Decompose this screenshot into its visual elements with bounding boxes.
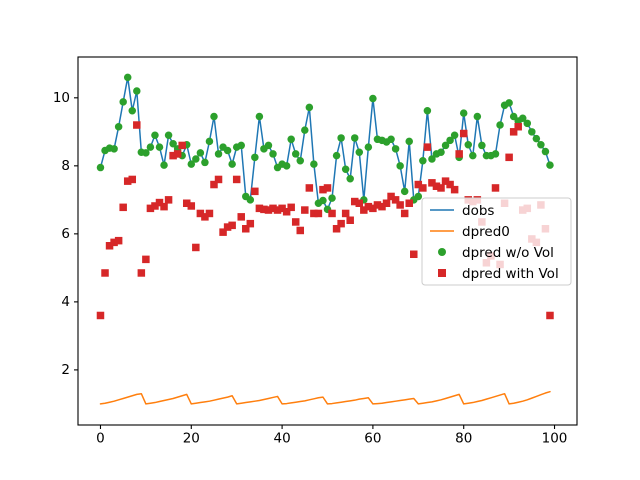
data-point-green: [451, 131, 459, 139]
data-point-green: [237, 142, 245, 150]
data-point-green: [201, 159, 209, 167]
data-point-red: [237, 213, 245, 221]
y-tick-label: 4: [61, 294, 70, 310]
data-point-green: [415, 193, 423, 201]
data-point-green: [546, 161, 554, 169]
data-point-green: [119, 98, 127, 106]
data-point-green: [133, 87, 141, 95]
data-point-red: [383, 200, 391, 208]
data-point-green: [528, 128, 536, 136]
data-point-green: [351, 134, 359, 142]
data-point-green: [369, 95, 377, 103]
data-point-green: [505, 99, 513, 107]
data-point-green: [310, 160, 318, 168]
x-tick-label: 20: [183, 431, 200, 447]
x-tick-label: 100: [542, 431, 568, 447]
data-point-green: [197, 149, 205, 157]
legend-circle-swatch: [438, 248, 446, 256]
data-point-red: [247, 220, 255, 228]
data-point-green: [306, 104, 314, 112]
data-point-green: [365, 143, 373, 151]
data-point-red: [337, 220, 345, 228]
legend[interactable]: dobsdpred0dpred w/o Voldpred with Vol: [422, 198, 571, 285]
data-point-green: [283, 162, 291, 170]
data-point-green: [115, 123, 123, 131]
y-tick-label: 6: [61, 226, 70, 242]
data-point-green: [301, 126, 309, 134]
data-point-red: [405, 200, 413, 208]
data-point-green: [460, 109, 468, 117]
data-point-red: [138, 269, 146, 277]
data-point-green: [405, 138, 413, 146]
data-point-red: [142, 256, 150, 264]
data-point-green: [542, 148, 550, 156]
data-point-green: [424, 107, 432, 115]
data-point-red: [514, 123, 522, 131]
matplotlib-figure: 020406080100246810 dobsdpred0dpred w/o V…: [0, 0, 640, 480]
data-point-red: [324, 184, 332, 192]
data-point-red: [133, 121, 141, 128]
data-point-green: [210, 113, 218, 121]
data-point-red: [437, 184, 445, 192]
data-point-green: [287, 136, 295, 144]
data-point-red: [346, 217, 354, 225]
data-point-green: [474, 113, 482, 121]
data-point-red: [206, 210, 214, 218]
data-point-green: [247, 196, 255, 204]
data-point-green: [265, 142, 273, 150]
data-point-red: [251, 188, 259, 196]
data-point-green: [292, 150, 300, 158]
data-point-green: [110, 145, 118, 153]
data-point-red: [328, 210, 336, 218]
data-point-red: [178, 142, 186, 150]
data-point-green: [356, 148, 364, 156]
data-point-red: [492, 184, 500, 192]
data-point-red: [192, 244, 200, 252]
data-point-green: [129, 107, 137, 115]
chart-canvas: 020406080100246810 dobsdpred0dpred w/o V…: [0, 0, 640, 480]
legend-label: dpred0: [462, 224, 510, 240]
data-point-green: [337, 134, 345, 142]
data-point-green: [492, 150, 500, 158]
legend-label: dpred w/o Vol: [462, 245, 554, 261]
data-point-red: [419, 184, 427, 192]
data-point-green: [465, 141, 473, 149]
y-tick-label: 2: [61, 362, 70, 378]
data-point-green: [333, 152, 341, 160]
y-tick-label: 10: [53, 90, 70, 106]
data-point-red: [451, 186, 459, 194]
data-point-green: [251, 154, 259, 162]
data-point-red: [188, 202, 196, 210]
data-point-green: [396, 162, 404, 170]
data-point-green: [147, 143, 155, 151]
data-point-red: [424, 143, 432, 151]
data-point-green: [256, 113, 264, 121]
data-point-green: [319, 197, 327, 205]
data-point-green: [151, 131, 159, 139]
data-point-green: [392, 145, 400, 153]
data-point-green: [537, 141, 545, 149]
data-point-green: [419, 157, 427, 165]
data-point-red: [287, 204, 295, 212]
data-point-green: [228, 160, 236, 168]
data-point-green: [192, 155, 200, 163]
data-point-red: [160, 203, 168, 211]
data-point-red: [215, 176, 223, 184]
data-point-green: [165, 131, 173, 139]
data-point-green: [342, 165, 350, 173]
data-point-green: [478, 142, 486, 150]
x-tick-label: 60: [364, 431, 381, 447]
data-point-red: [165, 196, 173, 204]
data-point-red: [129, 176, 137, 184]
data-point-green: [387, 136, 395, 144]
y-tick-label: 8: [61, 158, 70, 174]
x-tick-label: 0: [96, 431, 105, 447]
data-point-green: [297, 157, 305, 165]
data-point-green: [97, 164, 105, 172]
data-point-red: [410, 251, 418, 259]
data-point-red: [356, 200, 364, 208]
legend-label: dobs: [462, 203, 494, 219]
data-point-red: [306, 184, 314, 192]
x-tick-label: 80: [455, 431, 472, 447]
data-point-green: [269, 150, 277, 158]
data-point-green: [206, 138, 214, 146]
data-point-red: [115, 237, 123, 245]
data-point-red: [396, 201, 404, 209]
data-point-red: [228, 222, 236, 230]
data-point-green: [224, 147, 232, 155]
data-point-red: [505, 154, 513, 162]
data-point-green: [346, 175, 354, 183]
data-point-green: [156, 143, 164, 151]
data-point-green: [533, 135, 541, 143]
data-point-green: [328, 194, 336, 202]
data-point-green: [124, 74, 132, 82]
data-point-green: [524, 120, 532, 128]
data-point-red: [174, 150, 182, 158]
data-point-red: [460, 130, 468, 138]
data-point-green: [496, 121, 504, 128]
data-point-green: [215, 150, 223, 158]
data-point-red: [546, 312, 554, 320]
data-point-red: [455, 150, 463, 158]
data-point-red: [292, 218, 300, 226]
x-tick-label: 40: [274, 431, 291, 447]
data-point-green: [469, 152, 477, 160]
legend-square-swatch: [438, 269, 446, 277]
data-point-red: [401, 210, 409, 218]
data-point-green: [401, 188, 409, 196]
data-point-red: [97, 312, 105, 320]
data-point-red: [233, 176, 241, 184]
data-point-red: [119, 204, 127, 212]
data-point-red: [315, 210, 323, 218]
data-point-red: [301, 206, 309, 214]
data-point-red: [297, 227, 305, 235]
data-point-red: [101, 269, 109, 277]
data-point-green: [160, 161, 168, 169]
data-point-green: [437, 148, 445, 156]
legend-label: dpred with Vol: [462, 266, 559, 282]
data-point-red: [342, 210, 350, 218]
